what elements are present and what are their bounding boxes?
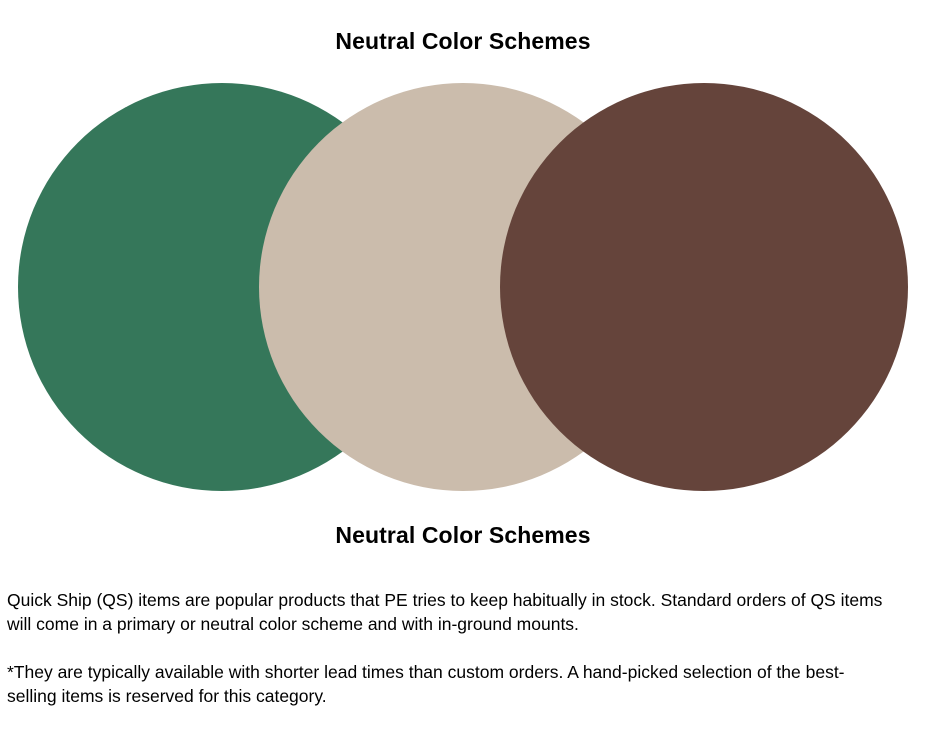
brown-swatch [500,83,908,491]
page-title-top: Neutral Color Schemes [0,28,926,55]
document-page: Neutral Color Schemes Neutral Color Sche… [0,0,926,752]
page-title-bottom: Neutral Color Schemes [0,522,926,549]
body-text: Quick Ship (QS) items are popular produc… [7,588,892,708]
paragraph-1: Quick Ship (QS) items are popular produc… [7,588,892,636]
color-swatch-row [0,83,926,491]
paragraph-2: *They are typically available with short… [7,660,892,708]
